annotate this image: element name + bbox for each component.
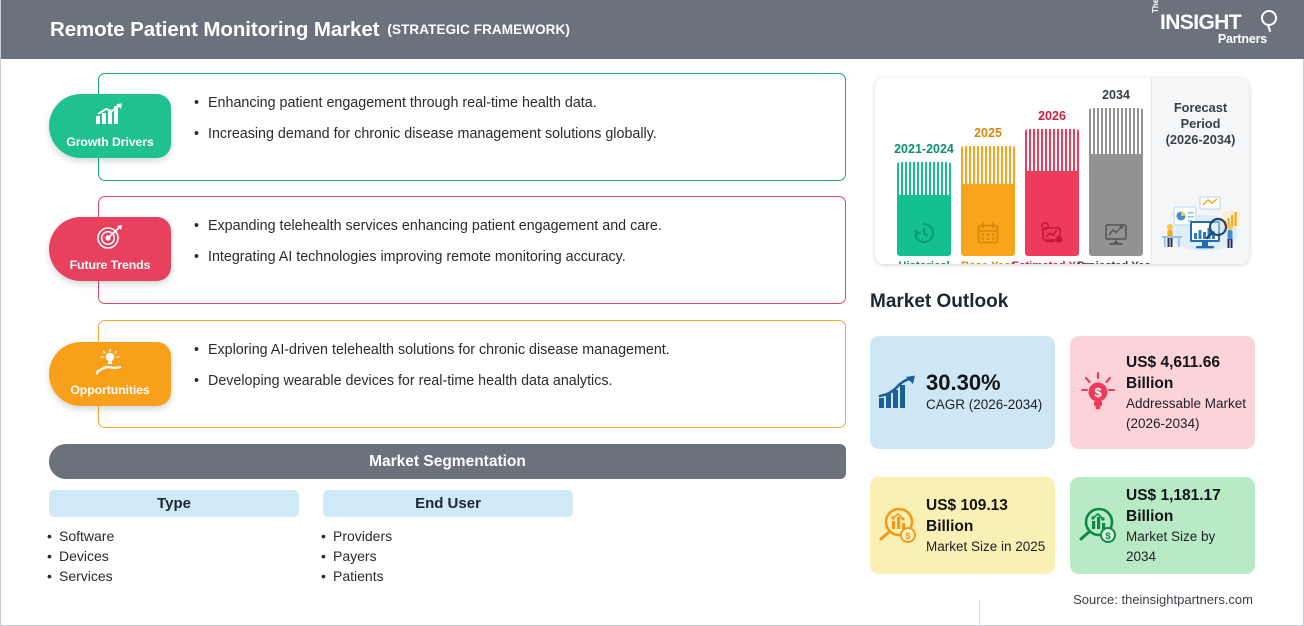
chart-bar-base-year: 2025: [961, 146, 1015, 256]
forecast-period-panel: Forecast Period (2026-2034): [1151, 78, 1249, 264]
outlook-card-value: 30.30%: [926, 370, 1047, 395]
market-outlook-title: Market Outlook: [870, 291, 1008, 313]
forecast-line-1: Forecast: [1152, 100, 1249, 116]
market-segmentation-title: Market Segmentation: [369, 453, 526, 471]
page-title: Remote Patient Monitoring Market: [50, 18, 379, 42]
source-text: Source: theinsightpartners.com: [1073, 592, 1253, 607]
list-item: • Expanding telehealth services enhancin…: [194, 216, 831, 237]
bar-chart-growth-icon: [49, 101, 171, 126]
outlook-card-value: US$ 4,611.66 Billion: [1126, 352, 1247, 394]
list-item: • Payers: [321, 546, 392, 566]
chart-bar-historical-years: 2021-2024 Historical Years: [897, 162, 951, 256]
magnifier-chart-dollar-icon: $: [1070, 504, 1126, 548]
hand-lightbulb-icon: [49, 349, 171, 374]
badge-label: Future Trends: [49, 258, 171, 272]
bullet-dot-icon: •: [47, 526, 59, 546]
outlook-card-label: Addressable Market (2026-2034): [1126, 394, 1247, 434]
insight-partners-logo: The INSIGHT Partners: [1151, 10, 1277, 50]
growth-arrow-chart-icon: [870, 374, 926, 412]
bullet-dot-icon: •: [194, 93, 208, 114]
column-header-label: End User: [415, 495, 481, 512]
magnifier-chart-dollar-icon: $: [870, 504, 926, 548]
chart-tick-label: 2021-2024: [883, 142, 965, 156]
segmentation-list-type: • Software • Devices • Services: [47, 526, 114, 586]
analytics-illustration: [1156, 191, 1246, 258]
segmentation-column-header-type: Type: [49, 490, 299, 517]
badge-label: Growth Drivers: [49, 135, 171, 149]
list-item-label: Patients: [333, 566, 384, 586]
divider: [979, 600, 980, 625]
list-item-label: Payers: [333, 546, 377, 566]
svg-text:$: $: [905, 531, 911, 542]
analytics-gear-icon: [1025, 220, 1079, 246]
bullet-dot-icon: •: [321, 546, 333, 566]
future-trends-card: • Expanding telehealth services enhancin…: [98, 196, 846, 304]
target-dart-icon: [49, 224, 171, 249]
infographic-page: Remote Patient Monitoring Market (STRATE…: [0, 0, 1304, 626]
growth-drivers-bullets: • Enhancing patient engagement through r…: [194, 93, 831, 154]
growth-drivers-card: • Enhancing patient engagement through r…: [98, 73, 846, 181]
bar-hatch-top: [961, 146, 1015, 184]
outlook-card-label: CAGR (2026-2034): [926, 395, 1047, 415]
bullet-dot-icon: •: [47, 546, 59, 566]
bullet-dot-icon: •: [194, 124, 208, 145]
chart-tick-label: 2025: [947, 126, 1029, 140]
page-subtitle: (STRATEGIC FRAMEWORK): [387, 22, 570, 37]
svg-text:$: $: [1094, 385, 1102, 400]
outlook-card-value: US$ 109.13 Billion: [926, 495, 1047, 537]
bar-shape: [1025, 129, 1079, 256]
lightbulb-dollar-icon: $: [1070, 371, 1126, 415]
forecast-period-chart: 2021-2024 Historical Years: [875, 78, 1249, 264]
logo-circle-icon: [1261, 10, 1277, 26]
market-segmentation-header: Market Segmentation: [49, 444, 846, 479]
logo-partners-text: Partners: [1218, 32, 1267, 46]
chart-bars-area: 2021-2024 Historical Years: [875, 78, 1151, 264]
list-item: • Integrating AI technologies improving …: [194, 247, 831, 268]
chart-category-label: Projected Year: [1075, 260, 1157, 264]
presentation-monitor-icon: [1089, 220, 1143, 246]
segmentation-list-end-user: • Providers • Payers • Patients: [321, 526, 392, 586]
list-item-label: Software: [59, 526, 114, 546]
calendar-icon: [961, 220, 1015, 246]
bullet-dot-icon: •: [321, 526, 333, 546]
bullet-text: Expanding telehealth services enhancing …: [208, 216, 662, 237]
bullet-text: Developing wearable devices for real-tim…: [208, 371, 613, 392]
forecast-line-2: Period: [1152, 116, 1249, 132]
list-item: • Developing wearable devices for real-t…: [194, 371, 831, 392]
outlook-card-addressable-market: $ US$ 4,611.66 Billion Addressable Marke…: [1070, 336, 1255, 449]
segmentation-column-header-end-user: End User: [323, 490, 573, 517]
bullet-text: Exploring AI-driven telehealth solutions…: [208, 340, 670, 361]
opportunities-card: • Exploring AI-driven telehealth solutio…: [98, 320, 846, 428]
outlook-card-label: Market Size by 2034: [1126, 527, 1247, 567]
badge-opportunities[interactable]: Opportunities: [49, 342, 171, 406]
svg-text:$: $: [1105, 531, 1111, 542]
bar-hatch-top: [897, 162, 951, 195]
bullet-dot-icon: •: [194, 340, 208, 361]
bullet-dot-icon: •: [194, 371, 208, 392]
column-header-label: Type: [157, 495, 191, 512]
list-item: • Enhancing patient engagement through r…: [194, 93, 831, 114]
outlook-card-body: US$ 1,181.17 Billion Market Size by 2034: [1126, 485, 1255, 567]
list-item: • Devices: [47, 546, 114, 566]
list-item: • Exploring AI-driven telehealth solutio…: [194, 340, 831, 361]
page-header: Remote Patient Monitoring Market (STRATE…: [1, 0, 1304, 59]
bullet-dot-icon: •: [194, 216, 208, 237]
outlook-card-body: US$ 109.13 Billion Market Size in 2025: [926, 495, 1055, 557]
chart-bar-projected-year: 2034 Proje: [1089, 108, 1143, 256]
bullet-dot-icon: •: [47, 566, 59, 586]
list-item: • Services: [47, 566, 114, 586]
list-item-label: Devices: [59, 546, 109, 566]
bullet-dot-icon: •: [321, 566, 333, 586]
outlook-card-market-size-2025: $ US$ 109.13 Billion Market Size in 2025: [870, 477, 1055, 574]
bar-shape: [1089, 108, 1143, 256]
bullet-text: Increasing demand for chronic disease ma…: [208, 124, 657, 145]
bar-shape: [961, 146, 1015, 256]
chart-tick-label: 2026: [1011, 109, 1093, 123]
list-item-label: Services: [59, 566, 113, 586]
list-item: • Providers: [321, 526, 392, 546]
outlook-card-label: Market Size in 2025: [926, 537, 1047, 557]
logo-the-text: The: [1151, 0, 1160, 13]
list-item: • Increasing demand for chronic disease …: [194, 124, 831, 145]
bullet-text: Enhancing patient engagement through rea…: [208, 93, 597, 114]
bar-shape: [897, 162, 951, 256]
bar-hatch-top: [1025, 129, 1079, 171]
opportunities-bullets: • Exploring AI-driven telehealth solutio…: [194, 340, 831, 401]
forecast-line-3: (2026-2034): [1152, 132, 1249, 148]
outlook-card-body: 30.30% CAGR (2026-2034): [926, 370, 1055, 415]
outlook-card-cagr: 30.30% CAGR (2026-2034): [870, 336, 1055, 449]
future-trends-bullets: • Expanding telehealth services enhancin…: [194, 216, 831, 277]
bullet-dot-icon: •: [194, 247, 208, 268]
list-item: • Software: [47, 526, 114, 546]
list-item-label: Providers: [333, 526, 392, 546]
clock-rewind-icon: [897, 220, 951, 246]
badge-label: Opportunities: [49, 383, 171, 397]
outlook-card-body: US$ 4,611.66 Billion Addressable Market …: [1126, 352, 1255, 434]
bar-hatch-top: [1089, 108, 1143, 154]
bullet-text: Integrating AI technologies improving re…: [208, 247, 626, 268]
badge-growth-drivers[interactable]: Growth Drivers: [49, 94, 171, 158]
outlook-card-market-size-2034: $ US$ 1,181.17 Billion Market Size by 20…: [1070, 477, 1255, 574]
badge-future-trends[interactable]: Future Trends: [49, 217, 171, 281]
forecast-period-text: Forecast Period (2026-2034): [1152, 100, 1249, 148]
chart-tick-label: 2034: [1075, 88, 1157, 102]
chart-bar-estimated-year: 2026 Estimated Year: [1025, 129, 1079, 256]
list-item: • Patients: [321, 566, 392, 586]
outlook-card-value: US$ 1,181.17 Billion: [1126, 485, 1247, 527]
